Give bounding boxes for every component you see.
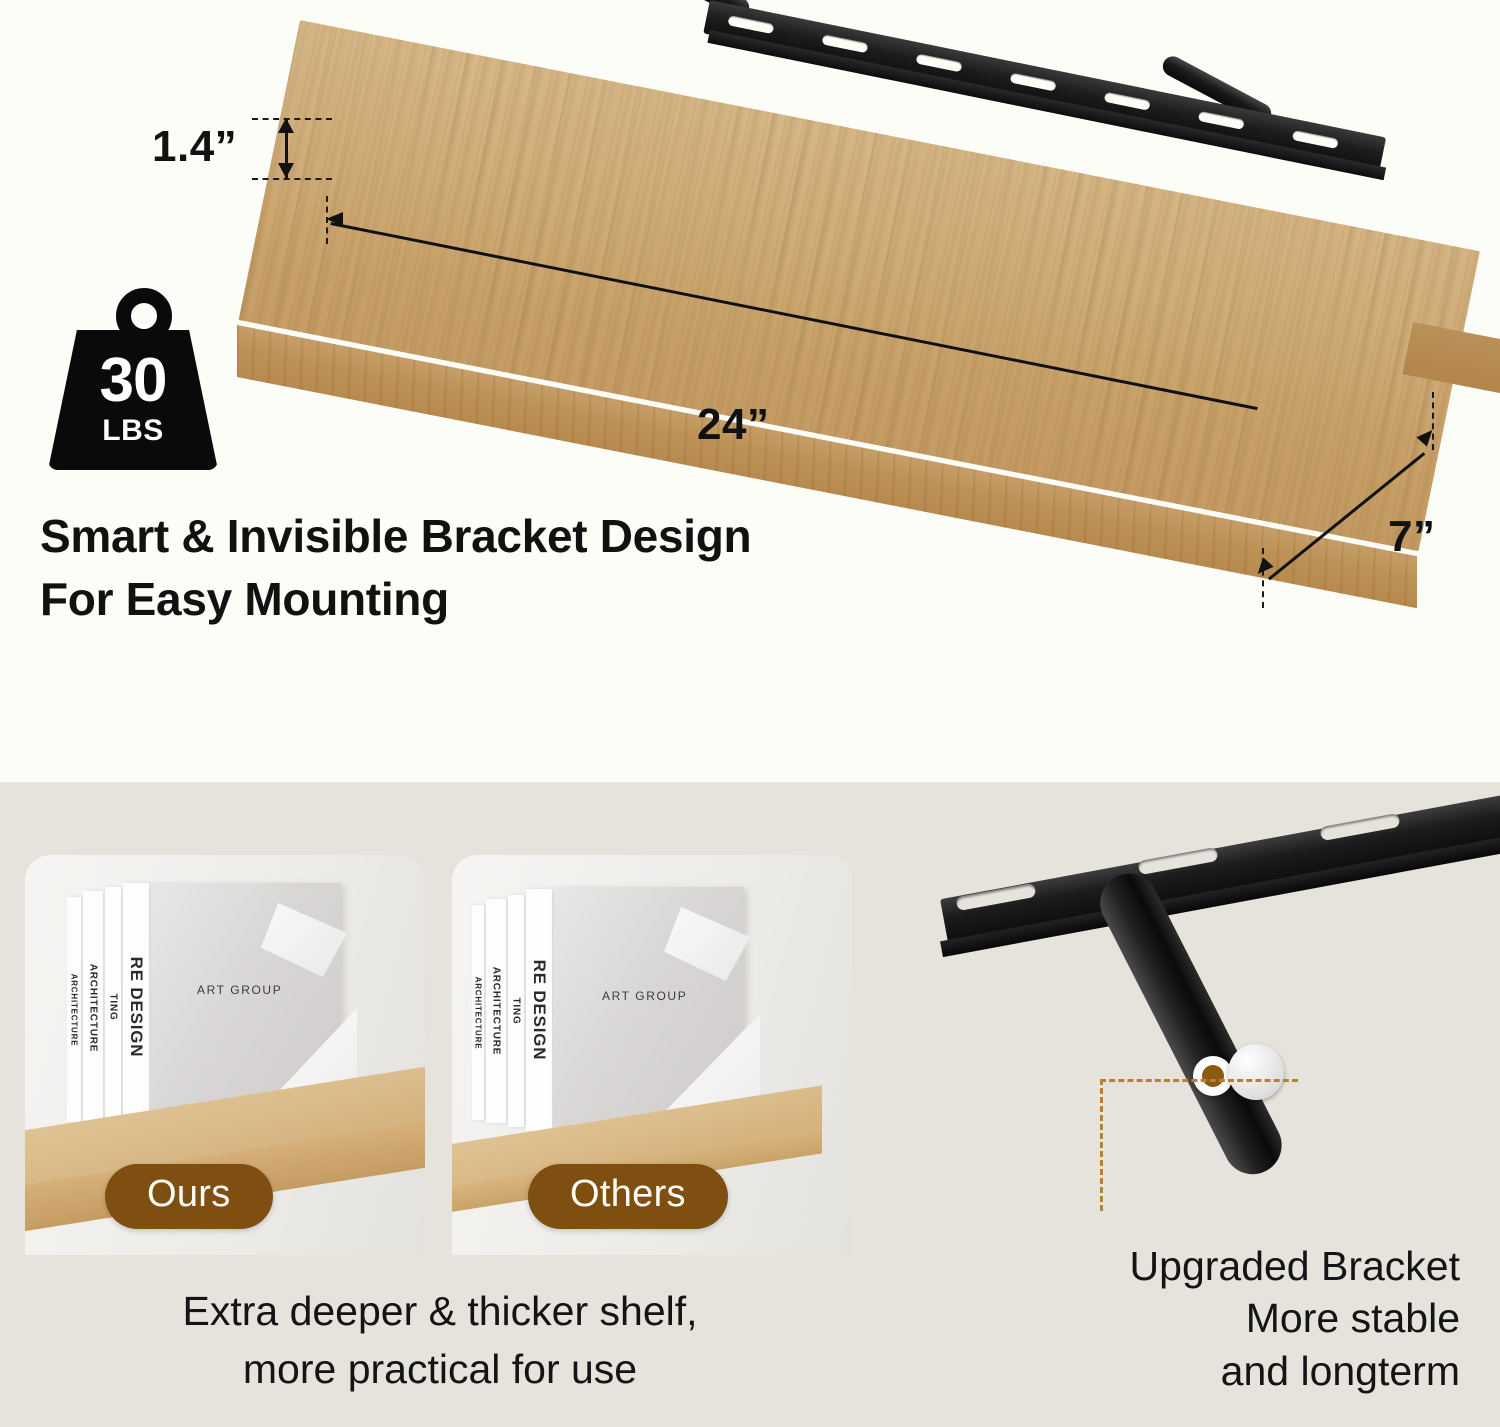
book-item: ARCHITECTURE — [83, 891, 103, 1124]
book-spine-text: ARCHITECTURE — [70, 973, 79, 1046]
caption-left-line-1: Extra deeper & thicker shelf, — [0, 1282, 880, 1340]
weight-capacity-icon: 30 LBS — [48, 288, 218, 470]
book-item: TING — [105, 887, 121, 1127]
book-item: TING — [508, 895, 524, 1127]
book-item: ARCHITECTURE — [472, 905, 484, 1120]
book-spine-text: ARCHITECTURE — [88, 963, 99, 1052]
length-label: 24” — [697, 400, 769, 450]
weight-unit: LBS — [48, 416, 218, 446]
book-cover-label: ART GROUP — [602, 989, 687, 1003]
bracket-bar — [703, 0, 1386, 171]
book-item: RE DESIGN — [526, 889, 552, 1131]
book-spine-text: TING — [108, 993, 119, 1020]
caption-right-line-1: Upgraded Bracket — [880, 1240, 1460, 1292]
page-title: Smart & Invisible Bracket Design For Eas… — [40, 505, 940, 632]
thickness-label: 1.4” — [152, 122, 237, 172]
book-item: ARCHITECTURE — [486, 899, 506, 1123]
book-cover-label: ART GROUP — [197, 983, 282, 997]
weight-value: 30 — [48, 350, 218, 412]
bracket-bar-underside — [707, 30, 1386, 180]
book-spine-text: ARCHITECTURE — [491, 967, 502, 1056]
closeup-bracket-rod — [1090, 864, 1291, 1184]
book-spine-text: ARCHITECTURE — [474, 976, 483, 1049]
badge-ours: Ours — [105, 1164, 273, 1229]
bracket-slot — [1292, 130, 1339, 149]
length-arrow-left — [326, 212, 343, 226]
product-dimension-panel: 1.4” 24” 7” 30 LBS Smart & Invisible Bra… — [0, 0, 1500, 782]
depth-label: 7” — [1388, 512, 1435, 562]
headline-line-1: Smart & Invisible Bracket Design — [40, 505, 940, 568]
caption-right-line-3: and longterm — [880, 1345, 1460, 1397]
bracket-slot — [1104, 92, 1151, 111]
bracket-slot — [727, 15, 774, 34]
caption-left-line-2: more practical for use — [0, 1340, 880, 1398]
book-spine-text: RE DESIGN — [529, 960, 549, 1061]
book-spine-text: TING — [511, 997, 522, 1024]
badge-others: Others — [528, 1164, 728, 1229]
wall-bracket — [690, 0, 1500, 260]
headline-line-2: For Easy Mounting — [40, 568, 940, 631]
caption-right-line-2: More stable — [880, 1292, 1460, 1344]
book-item: ARCHITECTURE — [67, 897, 81, 1122]
screw-head-icon — [1193, 1056, 1233, 1096]
comparison-caption: Extra deeper & thicker shelf, more pract… — [0, 1282, 880, 1398]
bracket-closeup — [880, 782, 1500, 1252]
bracket-slot — [821, 34, 868, 53]
closeup-caption: Upgraded Bracket More stable and longter… — [880, 1240, 1460, 1397]
bracket-slot — [1010, 73, 1057, 92]
book-spine-text: RE DESIGN — [126, 957, 146, 1058]
cap-cover-icon — [1228, 1044, 1284, 1100]
book-item: RE DESIGN — [123, 883, 149, 1131]
bracket-slot — [1198, 111, 1245, 130]
bracket-slot — [916, 53, 963, 72]
